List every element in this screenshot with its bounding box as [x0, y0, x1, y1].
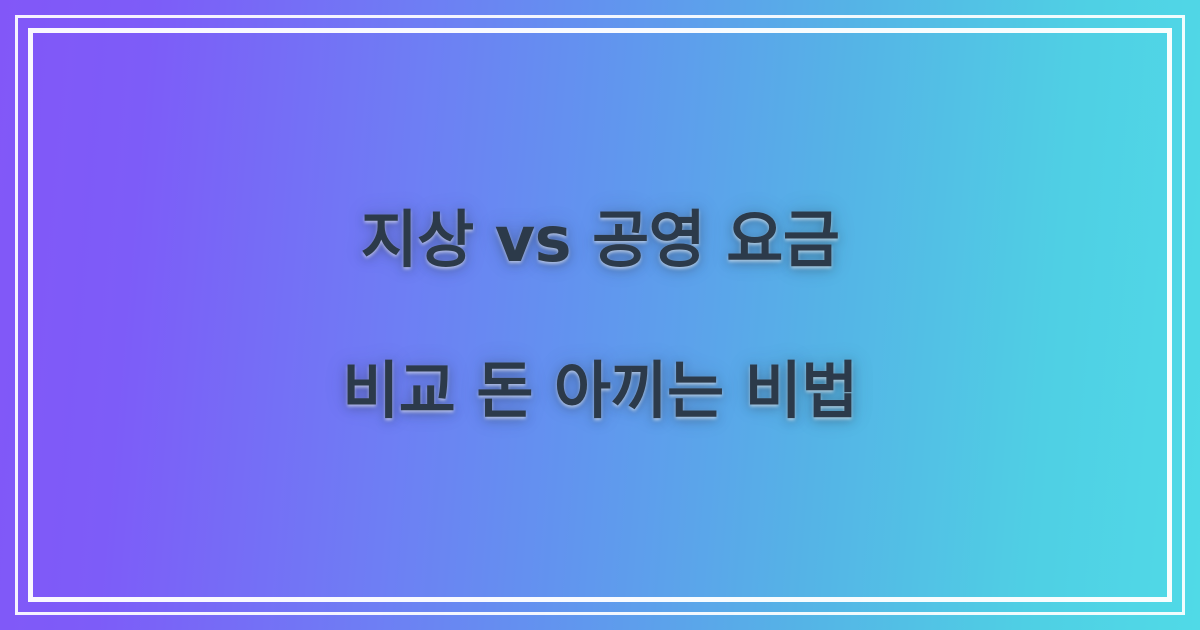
- title-line-1: 지상 vs 공영 요금: [342, 202, 858, 278]
- title-line-2: 비교 돈 아끼는 비법: [342, 353, 858, 429]
- page-title: 지상 vs 공영 요금 비교 돈 아끼는 비법: [342, 126, 858, 504]
- thumbnail-card: 지상 vs 공영 요금 비교 돈 아끼는 비법: [0, 0, 1200, 630]
- title-block: 지상 vs 공영 요금 비교 돈 아끼는 비법: [0, 0, 1200, 630]
